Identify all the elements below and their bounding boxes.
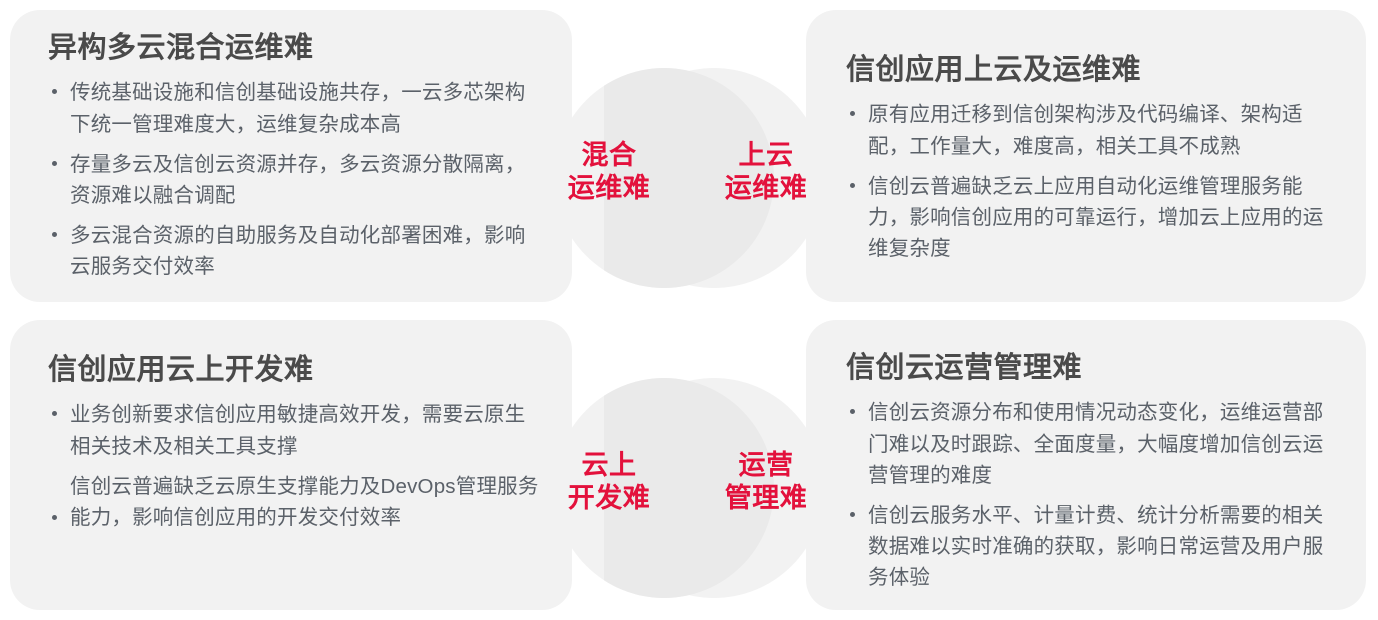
venn-label-left: 混合 运维难 bbox=[549, 139, 669, 205]
bullet-dot-icon bbox=[52, 515, 57, 520]
card-title: 信创云运营管理难 bbox=[846, 352, 1338, 385]
list-item-text: 多云混合资源的自助服务及自动化部署困难，影响云服务交付效率 bbox=[70, 224, 525, 278]
venn-label-right: 运营 管理难 bbox=[706, 449, 826, 515]
card-title: 信创应用云上开发难 bbox=[48, 354, 542, 387]
list-item: 信创云普遍缺乏云原生支撑能力及DevOps管理服务能力，影响信创应用的开发交付效… bbox=[48, 471, 542, 533]
list-item: 存量多云及信创云资源并存，多云资源分散隔离，资源难以融合调配 bbox=[48, 149, 542, 211]
card-content: 异构多云混合运维难 传统基础设施和信创基础设施共存，一云多芯架构下统一管理难度大… bbox=[10, 10, 572, 282]
list-item-text: 信创云普遍缺乏云原生支撑能力及DevOps管理服务能力，影响信创应用的开发交付效… bbox=[70, 475, 539, 529]
card-content: 信创应用上云及运维难 原有应用迁移到信创架构涉及代码编译、架构适配，工作量大，难… bbox=[806, 10, 1366, 264]
card-title: 异构多云混合运维难 bbox=[48, 32, 542, 65]
card-title: 信创应用上云及运维难 bbox=[846, 54, 1338, 87]
bullet-dot-icon bbox=[850, 512, 855, 517]
list-item: 信创云资源分布和使用情况动态变化，运维运营部门难以及时跟踪、全面度量，大幅度增加… bbox=[846, 397, 1338, 490]
card-xinchuang-cloud-operations-management: 信创云运营管理难 信创云资源分布和使用情况动态变化，运维运营部门难以及时跟踪、全… bbox=[806, 320, 1366, 610]
list-item: 多云混合资源的自助服务及自动化部署困难，影响云服务交付效率 bbox=[48, 220, 542, 282]
card-content: 信创应用云上开发难 业务创新要求信创应用敏捷高效开发，需要云原生相关技术及相关工… bbox=[10, 320, 572, 533]
venn-diagram-top: 混合 运维难 上云 运维难 bbox=[554, 65, 824, 295]
bullet-dot-icon bbox=[52, 161, 57, 166]
bullet-list: 传统基础设施和信创基础设施共存，一云多芯架构下统一管理难度大，运维复杂成本高 存… bbox=[48, 77, 542, 282]
list-item: 业务创新要求信创应用敏捷高效开发，需要云原生相关技术及相关工具支撑 bbox=[48, 399, 542, 461]
card-xinchuang-app-cloud-development: 信创应用云上开发难 业务创新要求信创应用敏捷高效开发，需要云原生相关技术及相关工… bbox=[10, 320, 572, 610]
bullet-dot-icon bbox=[52, 89, 57, 94]
list-item: 信创云普遍缺乏云上应用自动化运维管理服务能力，影响信创应用的可靠运行，增加云上应… bbox=[846, 171, 1338, 264]
list-item-text: 信创云普遍缺乏云上应用自动化运维管理服务能力，影响信创应用的可靠运行，增加云上应… bbox=[868, 175, 1323, 260]
bullet-dot-icon bbox=[52, 232, 57, 237]
list-item-text: 存量多云及信创云资源并存，多云资源分散隔离，资源难以融合调配 bbox=[70, 153, 525, 207]
bullet-list: 信创云资源分布和使用情况动态变化，运维运营部门难以及时跟踪、全面度量，大幅度增加… bbox=[846, 397, 1338, 593]
bullet-list: 原有应用迁移到信创架构涉及代码编译、架构适配，工作量大，难度高，相关工具不成熟 … bbox=[846, 99, 1338, 264]
infographic-canvas: 异构多云混合运维难 传统基础设施和信创基础设施共存，一云多芯架构下统一管理难度大… bbox=[0, 0, 1378, 620]
list-item: 原有应用迁移到信创架构涉及代码编译、架构适配，工作量大，难度高，相关工具不成熟 bbox=[846, 99, 1338, 161]
venn-diagram-bottom: 云上 开发难 运营 管理难 bbox=[554, 375, 824, 605]
list-item-text: 传统基础设施和信创基础设施共存，一云多芯架构下统一管理难度大，运维复杂成本高 bbox=[70, 81, 525, 135]
bullet-dot-icon bbox=[52, 411, 57, 416]
bullet-dot-icon bbox=[850, 183, 855, 188]
card-content: 信创云运营管理难 信创云资源分布和使用情况动态变化，运维运营部门难以及时跟踪、全… bbox=[806, 320, 1366, 593]
list-item-text: 信创云服务水平、计量计费、统计分析需要的相关数据难以实时准确的获取，影响日常运营… bbox=[868, 504, 1323, 589]
list-item-text: 原有应用迁移到信创架构涉及代码编译、架构适配，工作量大，难度高，相关工具不成熟 bbox=[868, 103, 1303, 157]
list-item-text: 业务创新要求信创应用敏捷高效开发，需要云原生相关技术及相关工具支撑 bbox=[70, 403, 525, 457]
list-item-text: 信创云资源分布和使用情况动态变化，运维运营部门难以及时跟踪、全面度量，大幅度增加… bbox=[868, 401, 1323, 486]
card-xinchuang-app-cloud-migration-ops: 信创应用上云及运维难 原有应用迁移到信创架构涉及代码编译、架构适配，工作量大，难… bbox=[806, 10, 1366, 302]
venn-label-left: 云上 开发难 bbox=[549, 449, 669, 515]
list-item: 传统基础设施和信创基础设施共存，一云多芯架构下统一管理难度大，运维复杂成本高 bbox=[48, 77, 542, 139]
card-heterogeneous-multicloud-ops: 异构多云混合运维难 传统基础设施和信创基础设施共存，一云多芯架构下统一管理难度大… bbox=[10, 10, 572, 302]
bullet-list: 业务创新要求信创应用敏捷高效开发，需要云原生相关技术及相关工具支撑 信创云普遍缺… bbox=[48, 399, 542, 533]
list-item: 信创云服务水平、计量计费、统计分析需要的相关数据难以实时准确的获取，影响日常运营… bbox=[846, 500, 1338, 593]
venn-label-right: 上云 运维难 bbox=[706, 139, 826, 205]
bullet-dot-icon bbox=[850, 111, 855, 116]
bullet-dot-icon bbox=[850, 409, 855, 414]
